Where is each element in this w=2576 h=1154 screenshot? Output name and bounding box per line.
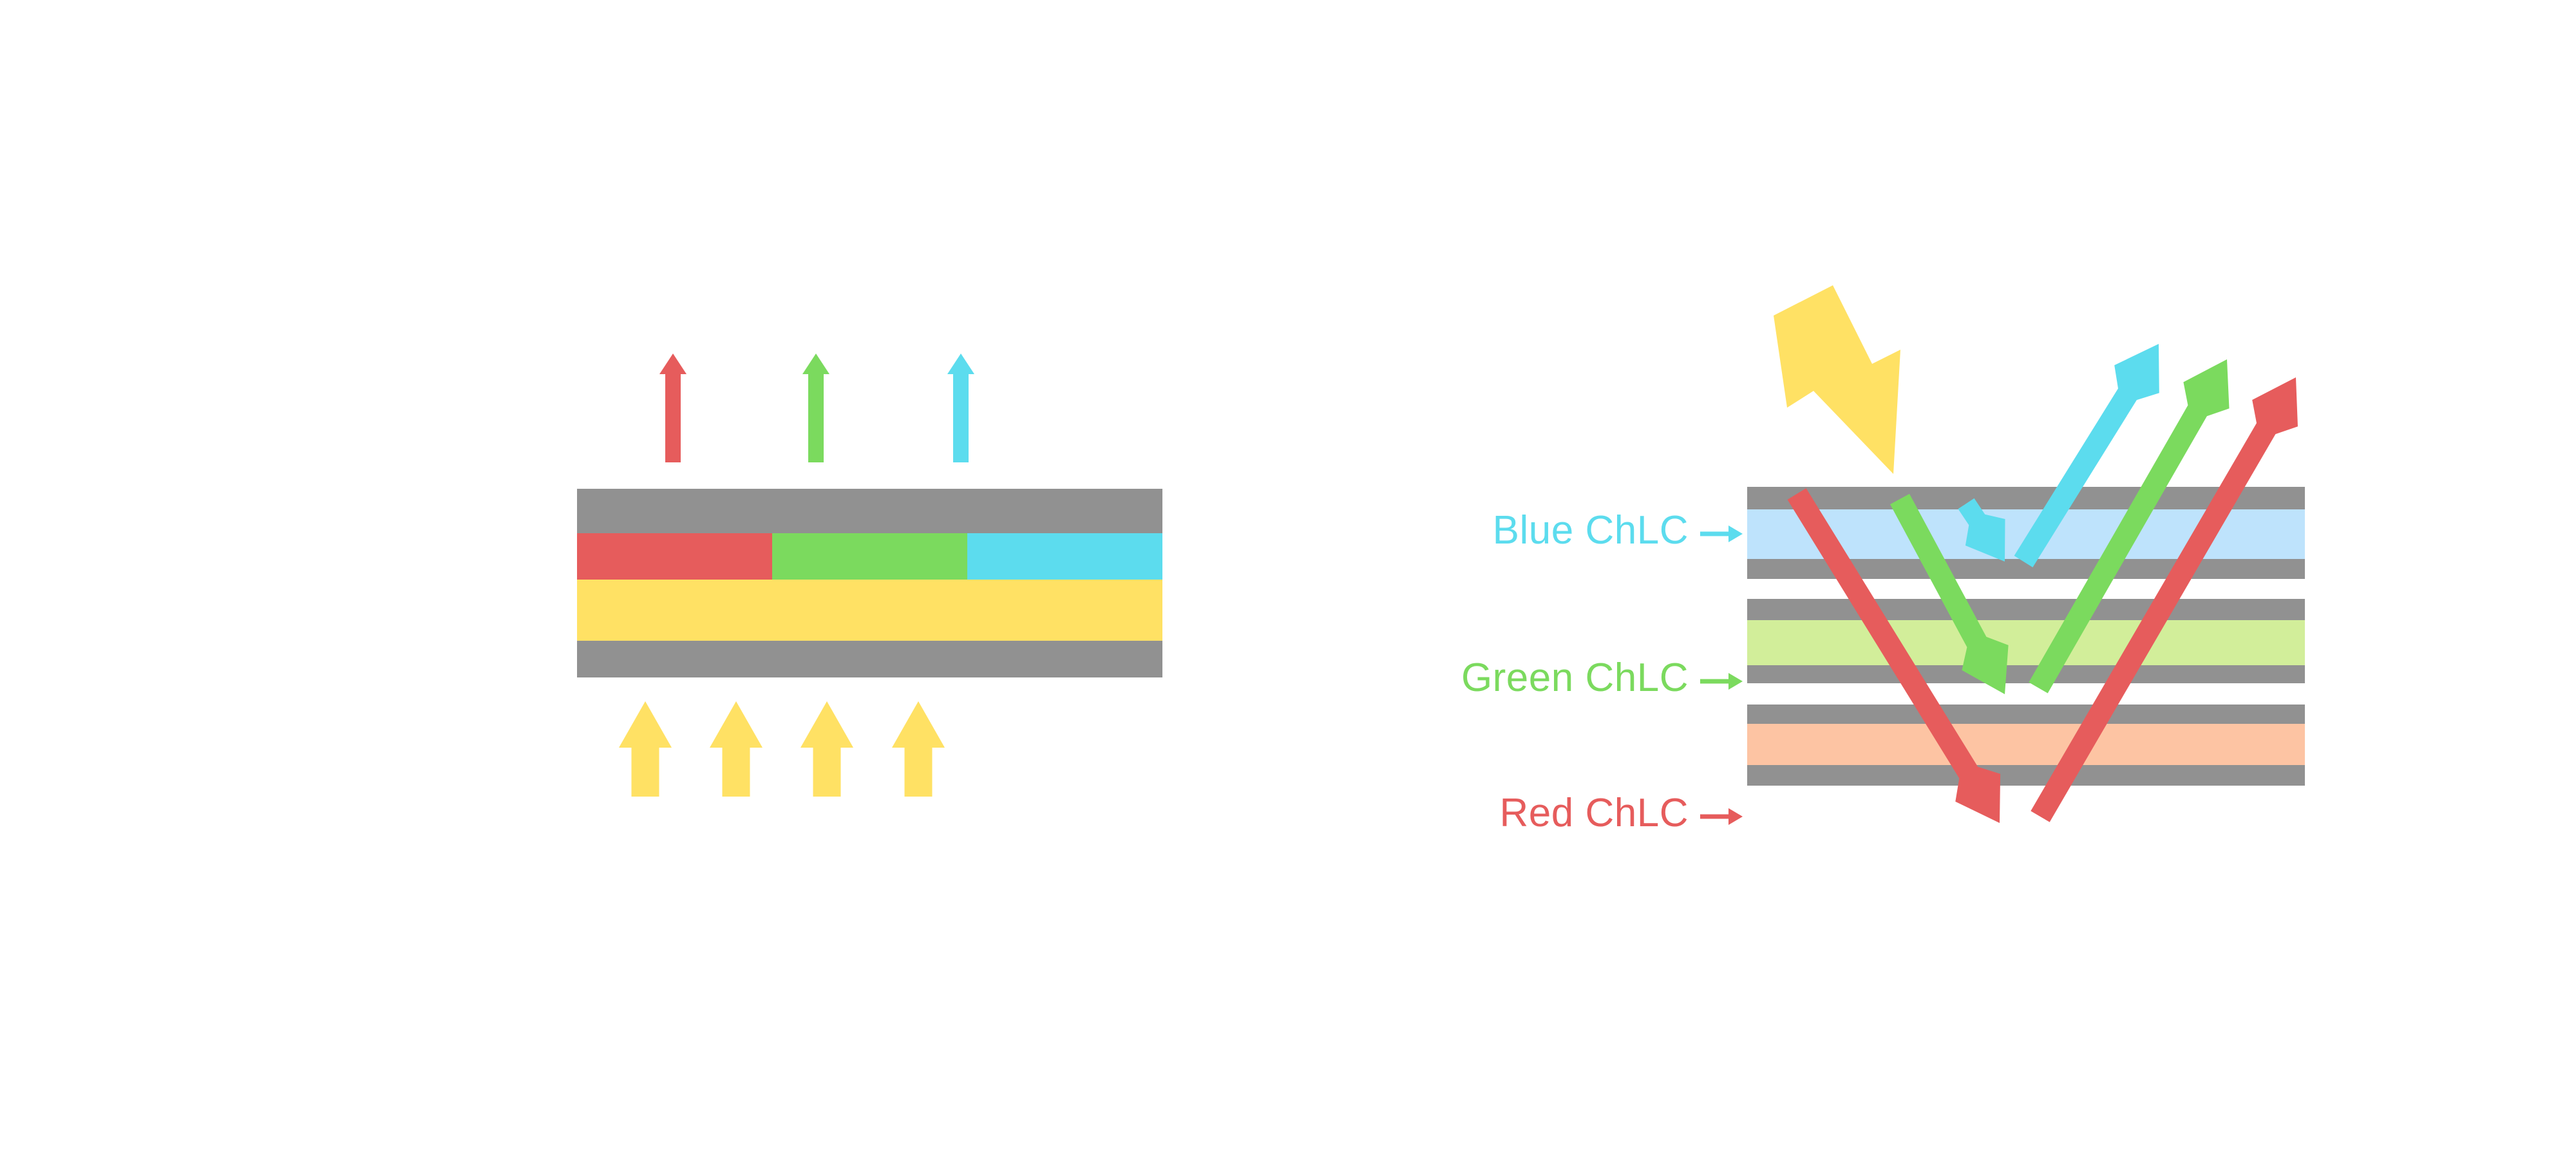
- blue-chlc-pointer-arrowhead: [1728, 525, 1743, 542]
- red-chlc-label: Red ChLC: [1500, 793, 1689, 833]
- green-chlc-layer: [1747, 620, 2305, 665]
- green-chlc-label: Green ChLC: [1461, 658, 1689, 698]
- reflective-chlc-stack-panel: Blue ChLCGreen ChLCRed ChLC: [0, 0, 2576, 1154]
- right-panel-graphics: [0, 0, 2576, 1154]
- green-cell-top-electrode: [1747, 599, 2305, 620]
- diagram-canvas: Blue ChLCGreen ChLCRed ChLC: [0, 0, 2576, 1154]
- green-chlc-pointer-arrowhead: [1728, 673, 1743, 690]
- blue-chlc-label: Blue ChLC: [1493, 511, 1689, 551]
- red-chlc-layer: [1747, 724, 2305, 765]
- red-chlc-pointer-arrowhead: [1728, 808, 1743, 825]
- incident-white-light-arrow: [1774, 285, 1900, 474]
- red-cell-bottom-electrode: [1747, 765, 2305, 786]
- red-cell-top-electrode: [1747, 705, 2305, 724]
- green-cell-bottom-electrode: [1747, 665, 2305, 683]
